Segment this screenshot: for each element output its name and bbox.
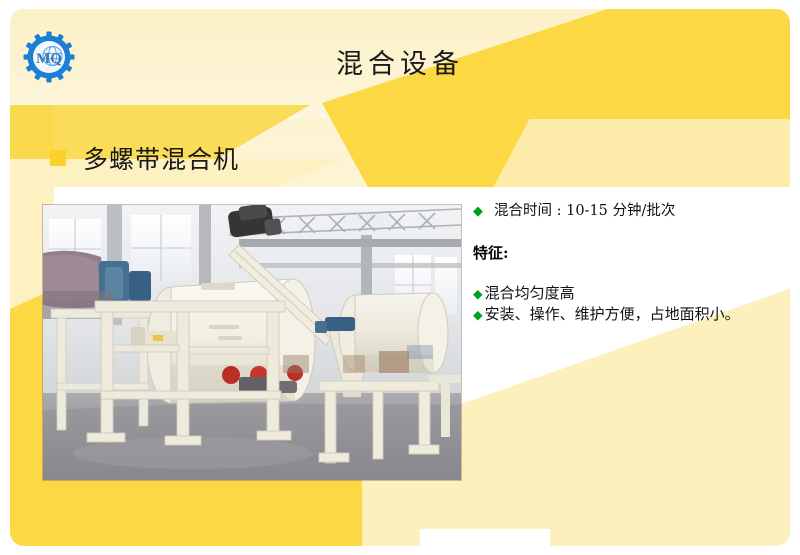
page-title: 混合设备: [10, 42, 790, 81]
diamond-bullet-icon: ◆: [473, 205, 483, 218]
equipment-photo: [43, 205, 461, 480]
diamond-bullet-icon: ◆: [473, 309, 483, 322]
specs-text-column: ◆ 混合时间 : 10-15 分钟/批次 特征: ◆ 混合均匀度高 ◆ 安装、操…: [473, 199, 790, 324]
features-list: ◆ 混合均匀度高 ◆ 安装、操作、维护方便，占地面积小。: [473, 283, 790, 324]
list-item-label: 安装、操作、维护方便，占地面积小。: [485, 304, 740, 325]
features-heading: 特征:: [473, 242, 790, 263]
section-heading: 多螺带混合机: [50, 140, 239, 176]
presentation-slide: MQ 混合设备 多螺带混合机: [10, 9, 790, 546]
square-bullet-icon: [50, 150, 66, 166]
list-item: ◆ 混合均匀度高: [473, 283, 790, 304]
mixing-time-line: ◆ 混合时间 : 10-15 分钟/批次: [473, 199, 790, 220]
list-item: ◆ 安装、操作、维护方便，占地面积小。: [473, 304, 790, 325]
mixing-time-label: 混合时间 : 10-15 分钟/批次: [494, 199, 675, 220]
equipment-photo-illustration: [43, 205, 461, 480]
section-heading-label: 多螺带混合机: [83, 140, 239, 176]
list-item-label: 混合均匀度高: [485, 283, 575, 304]
diamond-bullet-icon: ◆: [473, 288, 483, 301]
